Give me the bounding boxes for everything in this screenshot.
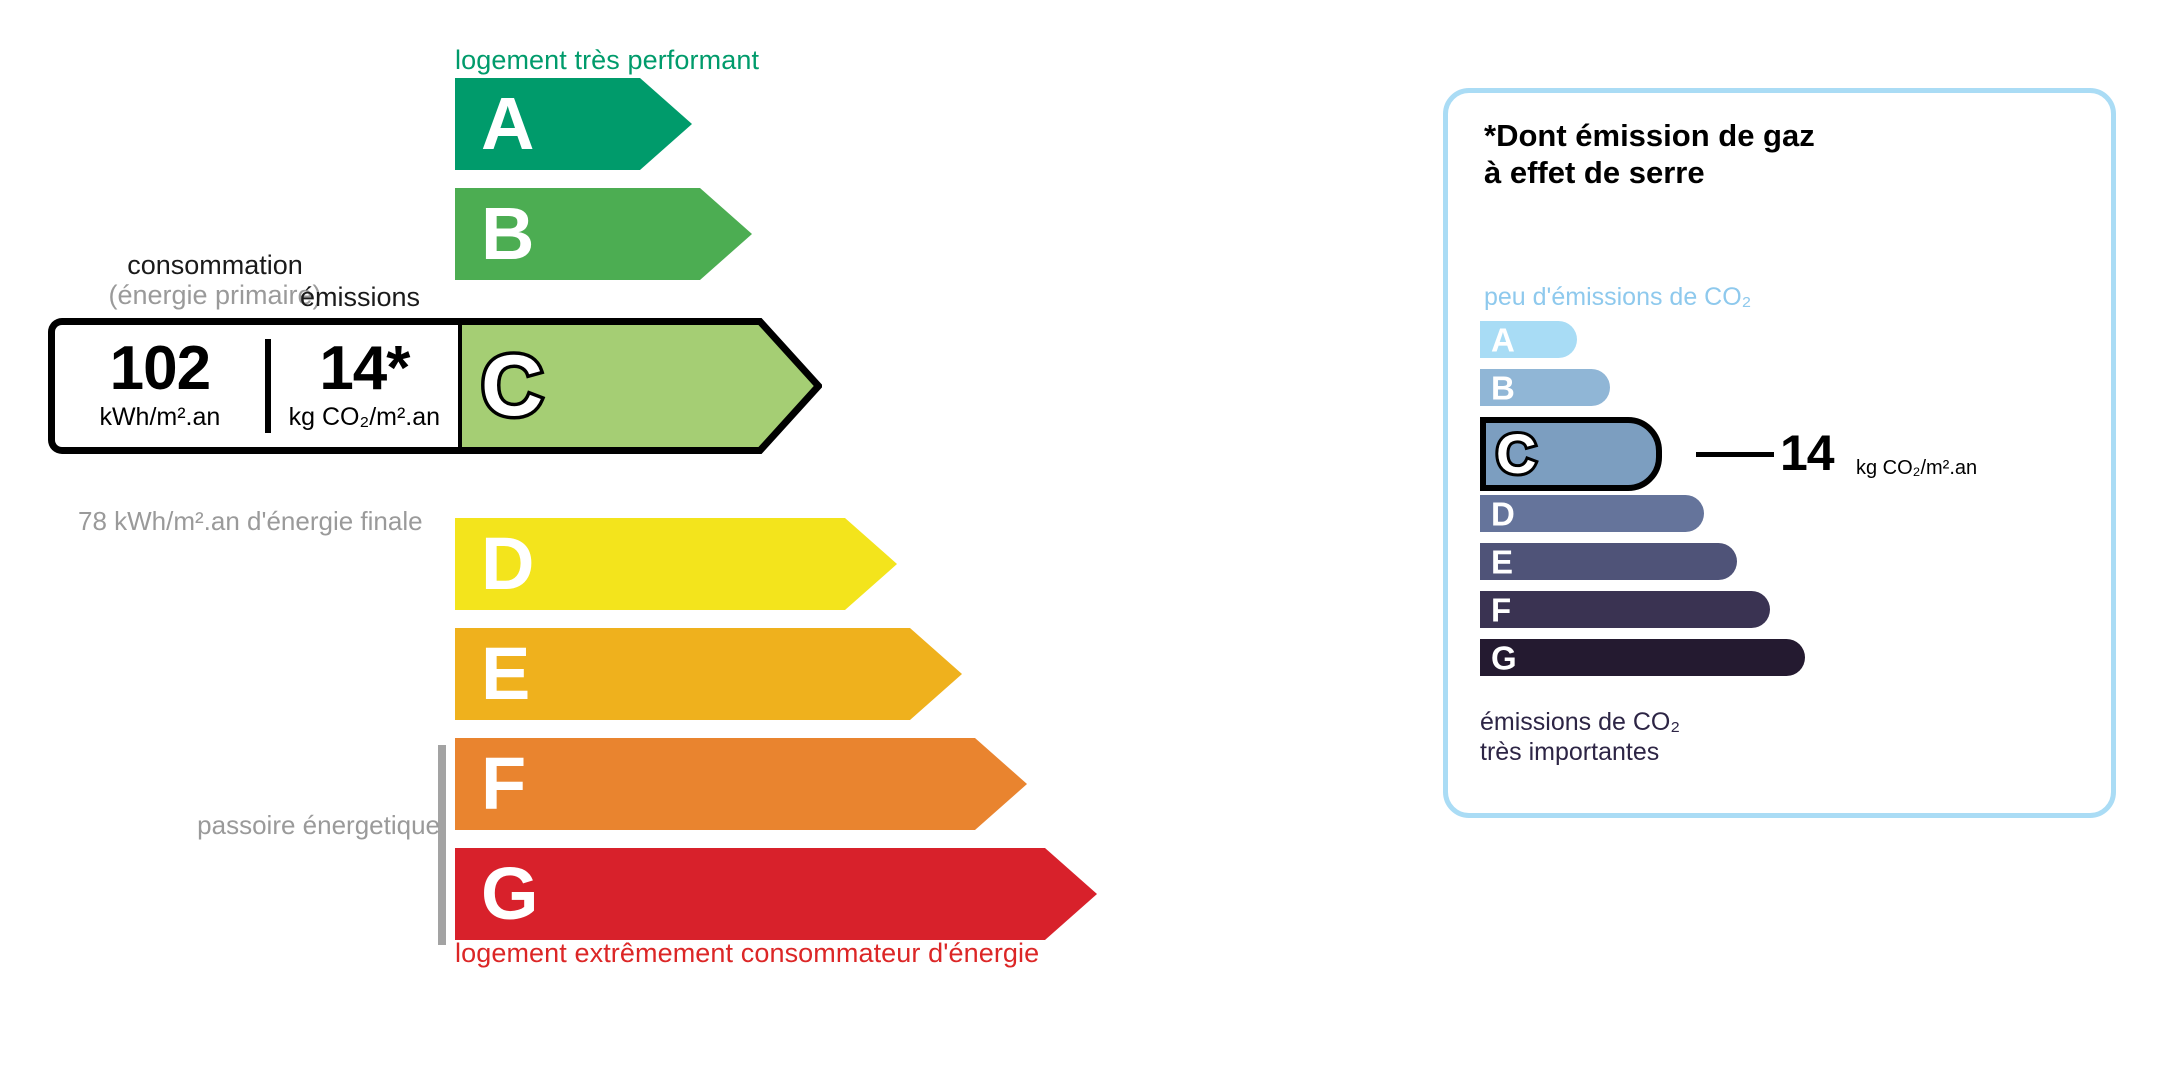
- energy-band-c: C: [455, 318, 822, 454]
- co2-bar-f: F: [1480, 591, 1770, 628]
- co2-card-title: *Dont émission de gaz à effet de serre: [1484, 117, 1815, 191]
- co2-bar-g: G: [1480, 639, 1805, 676]
- co2-bar-letter-a: A: [1491, 323, 1515, 356]
- primary-energy-value: 102: [110, 340, 210, 399]
- energy-caption-bottom: logement extrêmement consommateur d'éner…: [455, 938, 1039, 969]
- energy-band-shape-f: [455, 738, 1027, 830]
- energy-caption-top: logement très performant: [455, 45, 759, 76]
- co2-bar-letter-b: B: [1491, 371, 1515, 404]
- co2-bar-letter-d: D: [1491, 497, 1515, 530]
- energy-value-box: 102 kWh/m².an 14* kg CO₂/m².an: [48, 318, 458, 454]
- energy-band-e: E: [455, 628, 962, 720]
- emissions-unit: kg CO₂/m².an: [289, 403, 440, 432]
- emissions-value: 14*: [319, 340, 409, 399]
- co2-bar-d: D: [1480, 495, 1704, 532]
- energy-band-g: G: [455, 848, 1097, 940]
- energy-band-shape-e: [455, 628, 962, 720]
- co2-bar-letter-g: G: [1491, 641, 1517, 674]
- energy-band-letter-f: F: [481, 747, 526, 821]
- energy-band-b: B: [455, 188, 752, 280]
- co2-bar-b: B: [1480, 369, 1610, 406]
- energy-band-letter-c: C: [481, 343, 543, 429]
- co2-value: 14: [1780, 428, 1834, 478]
- passoire-marker-bar: [438, 745, 446, 945]
- energy-band-d: D: [455, 518, 897, 610]
- co2-leader-line: [1696, 452, 1774, 457]
- energy-band-letter-d: D: [481, 527, 534, 601]
- emissions-value-cell: 14* kg CO₂/m².an: [271, 325, 458, 447]
- co2-legend-high: émissions de CO₂ très importantes: [1480, 708, 1680, 767]
- co2-bar-e: E: [1480, 543, 1737, 580]
- energy-band-letter-e: E: [481, 637, 530, 711]
- co2-bar-letter-e: E: [1491, 545, 1513, 578]
- consumption-label-main: consommation: [70, 250, 360, 280]
- final-energy-label: 78 kWh/m².an d'énergie finale: [78, 506, 423, 536]
- primary-energy-unit: kWh/m².an: [99, 403, 220, 432]
- co2-legend-low: peu d'émissions de CO₂: [1484, 283, 1751, 312]
- co2-bar-a: A: [1480, 321, 1577, 358]
- energy-band-f: F: [455, 738, 1027, 830]
- co2-value-unit: kg CO₂/m².an: [1856, 458, 1977, 478]
- energy-band-letter-g: G: [481, 857, 539, 931]
- energy-performance-panel: logement très performant ABCDEFG passoir…: [0, 0, 1400, 1079]
- dpe-diagram: logement très performant ABCDEFG passoir…: [0, 0, 2169, 1079]
- primary-energy-value-cell: 102 kWh/m².an: [55, 325, 265, 447]
- emissions-label: émissions: [300, 282, 420, 313]
- co2-bar-letter-f: F: [1491, 593, 1511, 626]
- passoire-label: passoire énergetique: [180, 810, 440, 840]
- co2-bar-c: C: [1480, 417, 1662, 491]
- energy-band-letter-b: B: [481, 197, 534, 271]
- energy-band-shape-g: [455, 848, 1097, 940]
- co2-emissions-card: *Dont émission de gaz à effet de serre p…: [1443, 88, 2116, 818]
- energy-band-letter-a: A: [481, 87, 534, 161]
- co2-bar-letter-c: C: [1496, 426, 1536, 482]
- energy-band-a: A: [455, 78, 692, 170]
